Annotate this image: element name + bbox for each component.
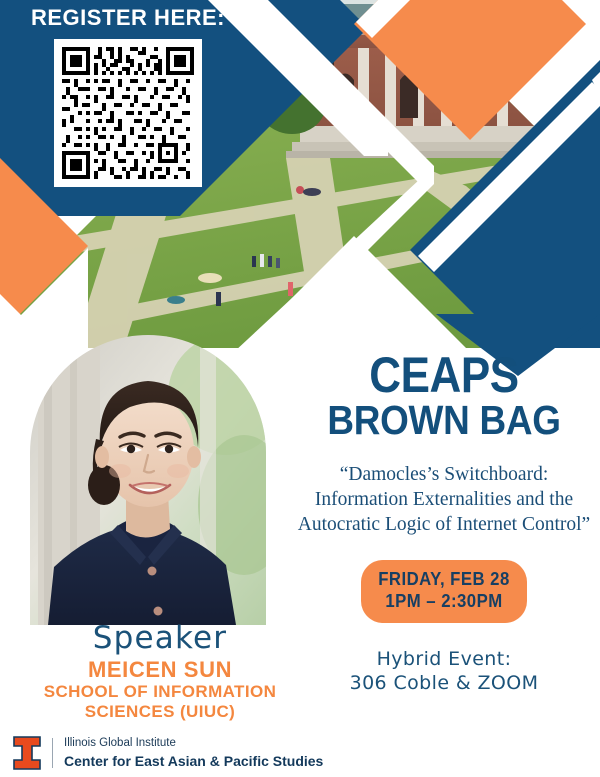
speaker-photo bbox=[30, 335, 266, 625]
footer-divider bbox=[52, 738, 53, 768]
speaker-name: MEICEN SUN bbox=[0, 658, 320, 683]
speaker-info: Speaker MEICEN SUN SCHOOL OF INFORMATION… bbox=[0, 622, 320, 721]
register-block: REGISTER HERE: bbox=[22, 6, 234, 187]
event-date: FRIDAY, FEB 28 bbox=[372, 569, 515, 591]
event-time: 1PM – 2:30PM bbox=[372, 591, 515, 613]
footer: Illinois Global Institute Center for Eas… bbox=[0, 729, 600, 777]
footer-org-line2: Center for East Asian & Pacific Studies bbox=[64, 753, 323, 770]
date-time-badge: FRIDAY, FEB 28 1PM – 2:30PM bbox=[361, 560, 527, 623]
speaker-affiliation-line1: SCHOOL OF INFORMATION bbox=[0, 682, 320, 702]
qr-code[interactable] bbox=[54, 39, 202, 187]
register-here-label: REGISTER HERE: bbox=[22, 6, 234, 30]
talk-title: “Damocles’s Switchboard: Information Ext… bbox=[288, 463, 600, 538]
speaker-heading: Speaker bbox=[0, 622, 320, 655]
event-poster: REGISTER HERE: bbox=[0, 0, 600, 777]
illinois-block-i-icon bbox=[12, 735, 42, 771]
event-title-line2: BROWN BAG bbox=[304, 400, 585, 441]
location-line2: 306 Coble & ZOOM bbox=[288, 671, 600, 696]
event-location: Hybrid Event: 306 Coble & ZOOM bbox=[288, 647, 600, 696]
location-line1: Hybrid Event: bbox=[288, 647, 600, 672]
event-title-line1: CEAPS bbox=[307, 352, 582, 398]
event-details: CEAPS BROWN BAG “Damocles’s Switchboard:… bbox=[288, 352, 600, 696]
speaker-affiliation-line2: SCIENCES (UIUC) bbox=[0, 702, 320, 722]
footer-org-line1: Illinois Global Institute bbox=[64, 737, 323, 751]
